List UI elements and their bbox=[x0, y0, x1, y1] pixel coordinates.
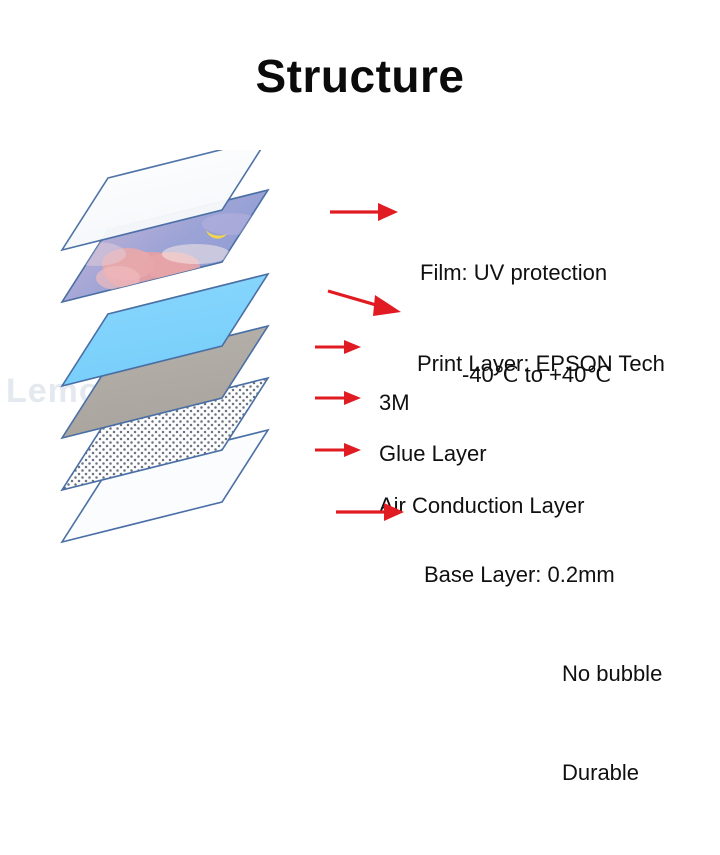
arrow-right-icon bbox=[334, 498, 406, 526]
callout-print-line1: Print Layer: EPSON Tech bbox=[417, 349, 665, 379]
arrow-right-icon bbox=[328, 198, 400, 226]
arrow-right-icon bbox=[313, 335, 363, 359]
callout-base-layer: Base Layer: 0.2mm No bubble Durable bbox=[334, 498, 662, 855]
callout-base-label: Base Layer: 0.2mm No bubble Durable bbox=[424, 492, 662, 855]
callout-base-line2: No bubble bbox=[424, 657, 662, 690]
arrow-down-right-icon bbox=[325, 285, 405, 321]
callout-base-line3: Durable bbox=[424, 756, 662, 789]
structure-infographic: Structure Lemonus bbox=[0, 0, 720, 720]
page-title: Structure bbox=[0, 52, 720, 100]
layer-stack-svg bbox=[0, 150, 330, 580]
arrow-right-icon bbox=[313, 438, 363, 462]
layer-stack-diagram bbox=[0, 150, 330, 580]
arrow-right-icon bbox=[313, 386, 363, 410]
callout-base-line1: Base Layer: 0.2mm bbox=[424, 558, 662, 591]
